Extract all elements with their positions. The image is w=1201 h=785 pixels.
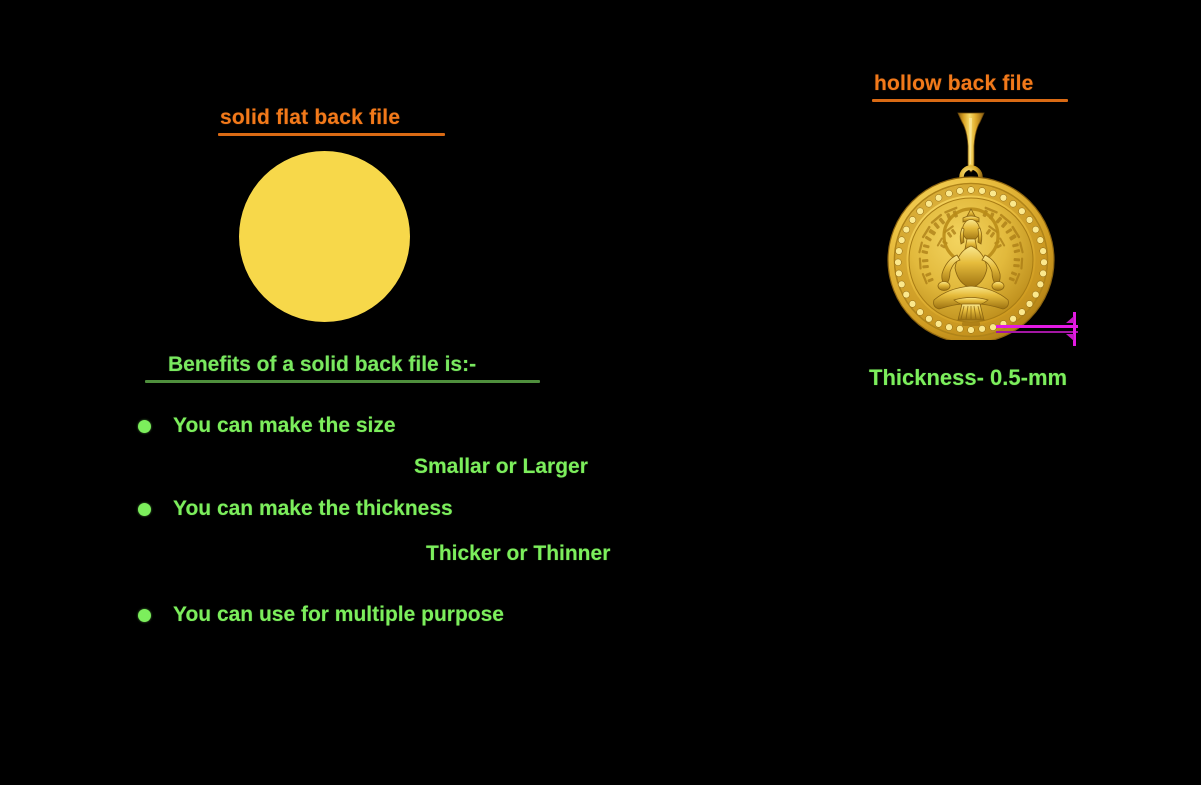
benefit-item-2-sub: Thicker or Thinner	[426, 542, 610, 566]
gold-deity-medallion-pendant	[880, 108, 1062, 340]
thickness-caption: Thickness- 0.5-mm	[869, 365, 1067, 391]
right-panel-title: hollow back file	[874, 72, 1034, 96]
dimension-arrow-up-icon	[1066, 316, 1074, 323]
benefit-item-2: You can make the thickness	[173, 497, 453, 521]
pendant-bail-shape	[958, 113, 984, 172]
benefits-heading: Benefits of a solid back file is:-	[168, 353, 476, 377]
right-panel-title-underline	[872, 99, 1068, 102]
slide-canvas: solid flat back file Benefits of a solid…	[0, 0, 1201, 785]
medallion-base-inscription	[962, 322, 980, 326]
solid-flat-gold-disc	[239, 151, 410, 322]
benefit-item-1: You can make the size	[173, 414, 396, 438]
dimension-arrow-down-icon	[1066, 334, 1074, 341]
benefit-item-3: You can use for multiple purpose	[173, 603, 504, 627]
benefit-item-1-sub: Smallar or Larger	[414, 455, 588, 479]
bullet-icon	[138, 420, 151, 433]
dimension-line-shadow	[996, 331, 1078, 333]
left-panel-title-underline	[218, 133, 445, 136]
benefits-heading-underline	[145, 380, 540, 383]
left-panel-title: solid flat back file	[220, 106, 400, 130]
dimension-line	[996, 325, 1078, 328]
bullet-icon	[138, 503, 151, 516]
bullet-icon	[138, 609, 151, 622]
